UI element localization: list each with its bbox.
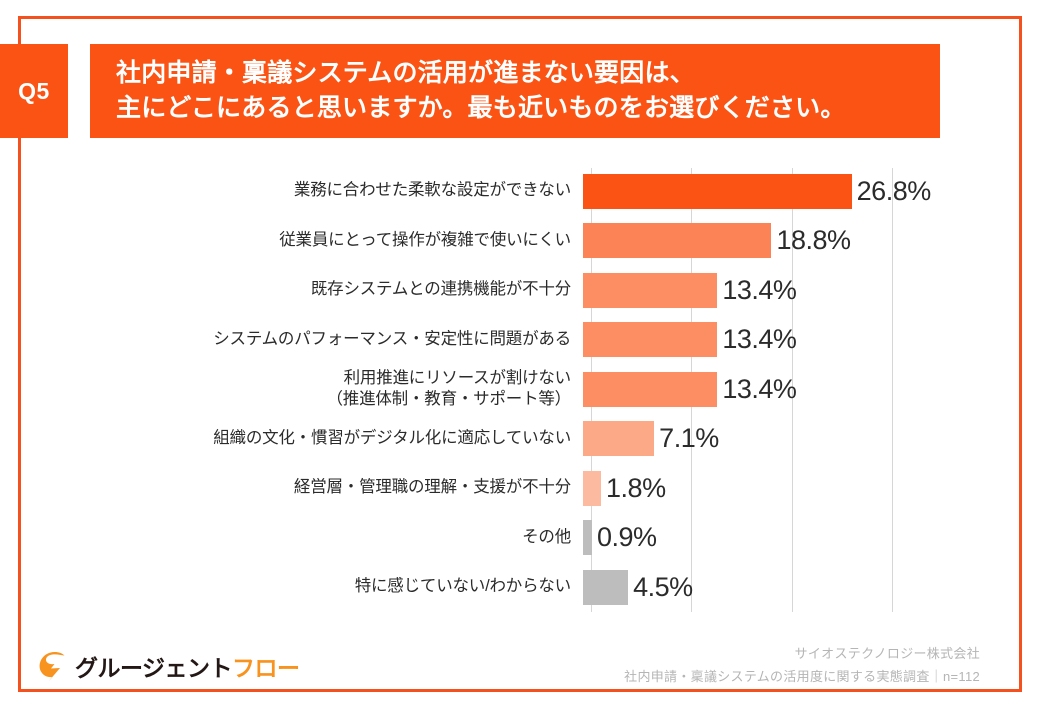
bar	[583, 421, 654, 456]
chart-rows: 業務に合わせた柔軟な設定ができない26.8%従業員にとって操作が複雑で使いにくい…	[0, 160, 1022, 622]
chart-row: 利用推進にリソースが割けない（推進体制・教育・サポート等）13.4%	[0, 366, 1022, 412]
bar-value-label: 13.4%	[722, 324, 796, 355]
source-attribution: サイオステクノロジー株式会社 社内申請・稟議システムの活用度に関する実態調査｜n…	[624, 643, 980, 689]
bar-and-value: 13.4%	[583, 372, 1022, 407]
bar-value-label: 1.8%	[606, 473, 666, 504]
bar-category-label-line: システムのパフォーマンス・安定性に問題がある	[0, 329, 571, 350]
question-text-line-2: 主にどこにあると思いますか。最も近いものをお選びください。	[116, 91, 940, 127]
bar-value-label: 4.5%	[633, 572, 693, 603]
bar-category-label-line: 既存システムとの連携機能が不十分	[0, 279, 571, 300]
bar	[583, 223, 771, 258]
chart-row: 従業員にとって操作が複雑で使いにくい18.8%	[0, 218, 1022, 264]
bar-category-label: 業務に合わせた柔軟な設定ができない	[0, 180, 583, 201]
bar	[583, 174, 852, 209]
logo-text-accent: フロー	[232, 649, 300, 683]
bar-category-label: 組織の文化・慣習がデジタル化に適応していない	[0, 428, 583, 449]
bar	[583, 520, 592, 555]
bar	[583, 471, 601, 506]
question-number-badge: Q5	[0, 44, 68, 138]
bar-category-label: 経営層・管理職の理解・支援が不十分	[0, 477, 583, 498]
bar-and-value: 4.5%	[583, 570, 1022, 605]
logo-text-main: グルージェント	[75, 649, 232, 683]
bar-and-value: 0.9%	[583, 520, 1022, 555]
bar-chart: 業務に合わせた柔軟な設定ができない26.8%従業員にとって操作が複雑で使いにくい…	[0, 160, 1022, 622]
bar	[583, 570, 628, 605]
brand-logo: グルージェント フロー	[38, 649, 300, 683]
bar-category-label-line: その他	[0, 527, 571, 548]
chart-row: 特に感じていない/わからない4.5%	[0, 564, 1022, 610]
question-text-line-1: 社内申請・稟議システムの活用が進まない要因は、	[116, 56, 940, 92]
bar-and-value: 13.4%	[583, 273, 1022, 308]
chart-row: 組織の文化・慣習がデジタル化に適応していない7.1%	[0, 416, 1022, 462]
bar-value-label: 13.4%	[722, 374, 796, 405]
bar	[583, 322, 717, 357]
bar-category-label-line: 特に感じていない/わからない	[0, 576, 571, 597]
chart-row: 既存システムとの連携機能が不十分13.4%	[0, 267, 1022, 313]
bar-and-value: 7.1%	[583, 421, 1022, 456]
bar-category-label: 既存システムとの連携機能が不十分	[0, 279, 583, 300]
chart-row: その他0.9%	[0, 515, 1022, 561]
bar-value-label: 7.1%	[659, 423, 719, 454]
bar-category-label-line: 組織の文化・慣習がデジタル化に適応していない	[0, 428, 571, 449]
bar-category-label: 従業員にとって操作が複雑で使いにくい	[0, 230, 583, 251]
bar-and-value: 1.8%	[583, 471, 1022, 506]
bar-category-label: システムのパフォーマンス・安定性に問題がある	[0, 329, 583, 350]
chart-row: 業務に合わせた柔軟な設定ができない26.8%	[0, 168, 1022, 214]
footer: グルージェント フロー サイオステクノロジー株式会社 社内申請・稟議システムの活…	[0, 636, 1022, 696]
bar-category-label: 利用推進にリソースが割けない（推進体制・教育・サポート等）	[0, 368, 583, 410]
bar-category-label-line: （推進体制・教育・サポート等）	[0, 389, 571, 410]
lightning-g-icon	[38, 650, 68, 682]
bar	[583, 372, 717, 407]
bar	[583, 273, 717, 308]
bar-category-label-line: 業務に合わせた柔軟な設定ができない	[0, 180, 571, 201]
chart-row: システムのパフォーマンス・安定性に問題がある13.4%	[0, 317, 1022, 363]
bar-value-label: 13.4%	[722, 275, 796, 306]
chart-row: 経営層・管理職の理解・支援が不十分1.8%	[0, 465, 1022, 511]
bar-value-label: 26.8%	[857, 176, 931, 207]
source-survey: 社内申請・稟議システムの活用度に関する実態調査｜n=112	[624, 666, 980, 689]
bar-category-label-line: 従業員にとって操作が複雑で使いにくい	[0, 230, 571, 251]
bar-value-label: 18.8%	[776, 225, 850, 256]
question-text-box: 社内申請・稟議システムの活用が進まない要因は、 主にどこにあると思いますか。最も…	[90, 44, 940, 138]
bar-value-label: 0.9%	[597, 522, 657, 553]
bar-category-label: 特に感じていない/わからない	[0, 576, 583, 597]
source-company: サイオステクノロジー株式会社	[624, 643, 980, 666]
bar-and-value: 13.4%	[583, 322, 1022, 357]
bar-category-label-line: 経営層・管理職の理解・支援が不十分	[0, 477, 571, 498]
bar-and-value: 26.8%	[583, 174, 1022, 209]
question-header: Q5 社内申請・稟議システムの活用が進まない要因は、 主にどこにあると思いますか…	[0, 44, 940, 138]
bar-category-label: その他	[0, 527, 583, 548]
bar-category-label-line: 利用推進にリソースが割けない	[0, 368, 571, 389]
bar-and-value: 18.8%	[583, 223, 1022, 258]
